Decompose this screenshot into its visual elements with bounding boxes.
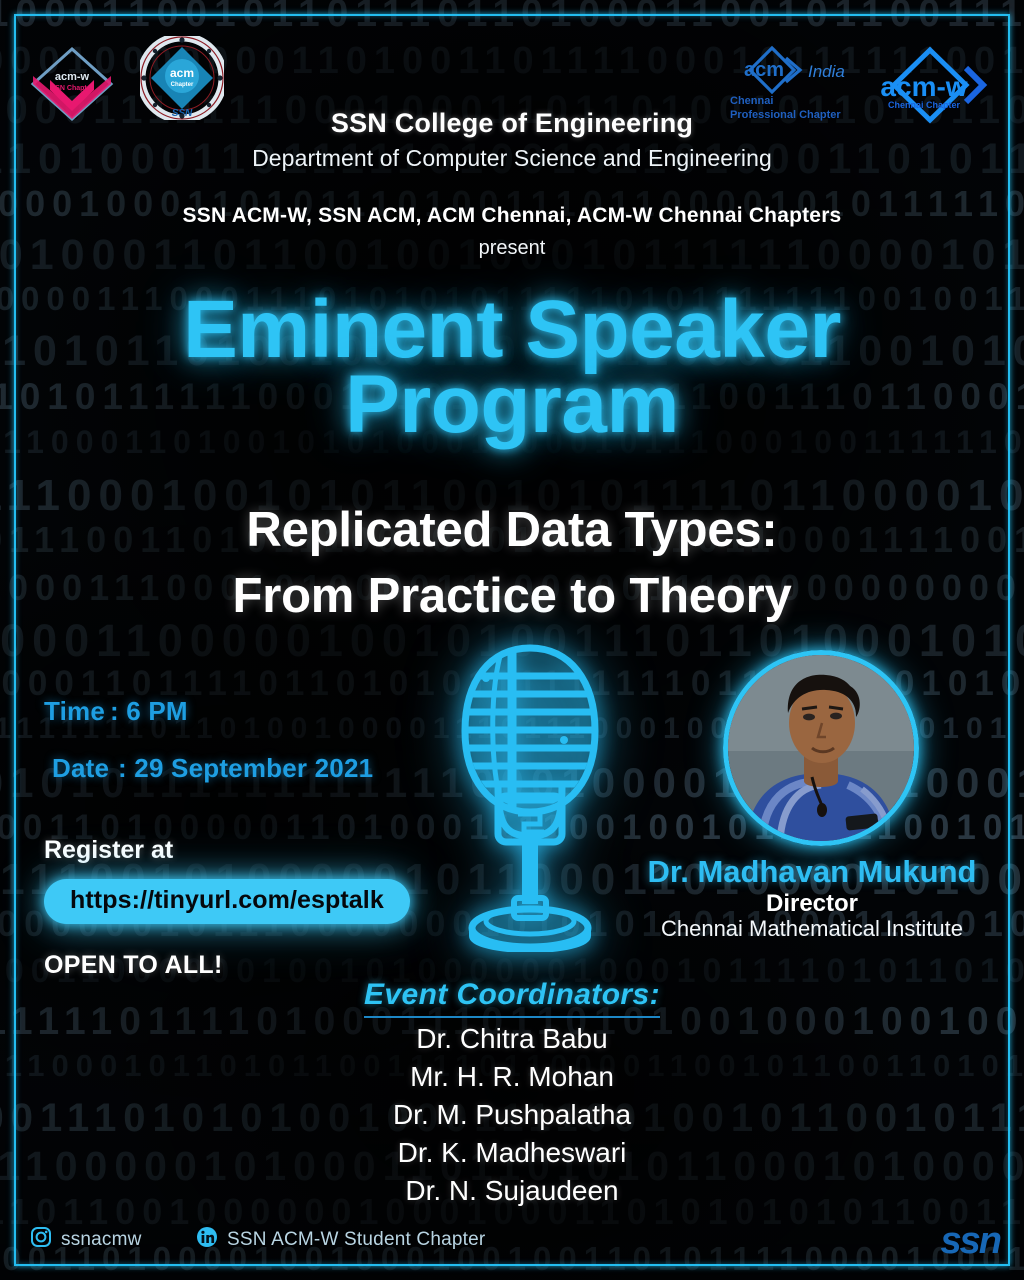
- speaker-organisation: Chennai Mathematical Institute: [600, 916, 1024, 942]
- svg-text:acm-w: acm-w: [55, 71, 90, 83]
- microphone-icon: [440, 636, 620, 952]
- coordinators-list: Dr. Chitra BabuMr. H. R. MohanDr. M. Pus…: [0, 1020, 1024, 1210]
- event-date-label: Date: [52, 753, 118, 784]
- svg-text:acm: acm: [744, 59, 784, 81]
- talk-title-line2: From Practice to Theory: [0, 563, 1024, 629]
- coordinator-item: Dr. K. Madheswari: [0, 1134, 1024, 1172]
- footer: ssnacmw SSN ACM-W Student Chapter ssn: [0, 1218, 1024, 1264]
- event-time-row: Time: 6 PM: [44, 696, 474, 727]
- instagram-handle: ssnacmw: [61, 1229, 142, 1251]
- svg-text:SSN Chapter: SSN Chapter: [51, 85, 94, 92]
- page-title: Eminent Speaker Program: [0, 292, 1024, 443]
- speaker-name: Dr. Madhavan Mukund: [600, 854, 1024, 890]
- instagram-icon: [30, 1226, 52, 1253]
- organising-chapters: SSN ACM-W, SSN ACM, ACM Chennai, ACM-W C…: [0, 204, 1024, 228]
- coordinator-item: Dr. M. Pushpalatha: [0, 1096, 1024, 1134]
- program-title-line1: Eminent Speaker: [0, 292, 1024, 367]
- logo-row: acm-w SSN Chapter acm Chapter SSN: [0, 28, 1024, 116]
- linkedin-handle: SSN ACM-W Student Chapter: [227, 1229, 485, 1251]
- registration-link[interactable]: https://tinyurl.com/esptalk: [44, 879, 410, 924]
- event-time-separator: :: [110, 696, 119, 726]
- talk-title: Replicated Data Types: From Practice to …: [0, 497, 1024, 629]
- talk-title-line1: Replicated Data Types:: [0, 497, 1024, 563]
- event-time-value: 6 PM: [126, 696, 187, 726]
- event-poster: 0100011001011011101101000110010110011101…: [0, 0, 1024, 1280]
- department-name: Department of Computer Science and Engin…: [0, 145, 1024, 172]
- event-date-value: 29 September 2021: [134, 753, 373, 783]
- speaker-role: Director: [600, 890, 1024, 918]
- event-details-block: Time: 6 PM Date: 29 September 2021 Regis…: [44, 696, 474, 980]
- coordinators-heading: Event Coordinators:: [0, 978, 1024, 1018]
- coordinator-item: Mr. H. R. Mohan: [0, 1058, 1024, 1096]
- svg-text:Chapter: Chapter: [171, 82, 194, 88]
- event-time-label: Time: [44, 696, 110, 727]
- linkedin-icon: [196, 1226, 218, 1253]
- present-label: present: [0, 237, 1024, 260]
- event-date-row: Date: 29 September 2021: [52, 753, 474, 784]
- register-label: Register at: [44, 836, 474, 865]
- open-to-all-note: OPEN TO ALL!: [44, 951, 474, 980]
- svg-text:India: India: [808, 62, 845, 81]
- coordinators-heading-text: Event Coordinators:: [364, 978, 660, 1018]
- college-name: SSN College of Engineering: [0, 108, 1024, 139]
- svg-text:acm-w: acm-w: [880, 71, 967, 102]
- svg-text:Chennai: Chennai: [730, 95, 773, 107]
- speaker-avatar: [723, 650, 919, 846]
- event-date-separator: :: [118, 753, 127, 783]
- program-title-line2: Program: [0, 367, 1024, 442]
- svg-text:acm: acm: [170, 66, 194, 80]
- linkedin-social-item[interactable]: SSN ACM-W Student Chapter: [196, 1226, 485, 1253]
- instagram-social-item[interactable]: ssnacmw: [30, 1226, 142, 1253]
- coordinator-item: Dr. Chitra Babu: [0, 1020, 1024, 1058]
- coordinator-item: Dr. N. Sujaudeen: [0, 1172, 1024, 1210]
- ssn-logo: ssn: [941, 1220, 1000, 1263]
